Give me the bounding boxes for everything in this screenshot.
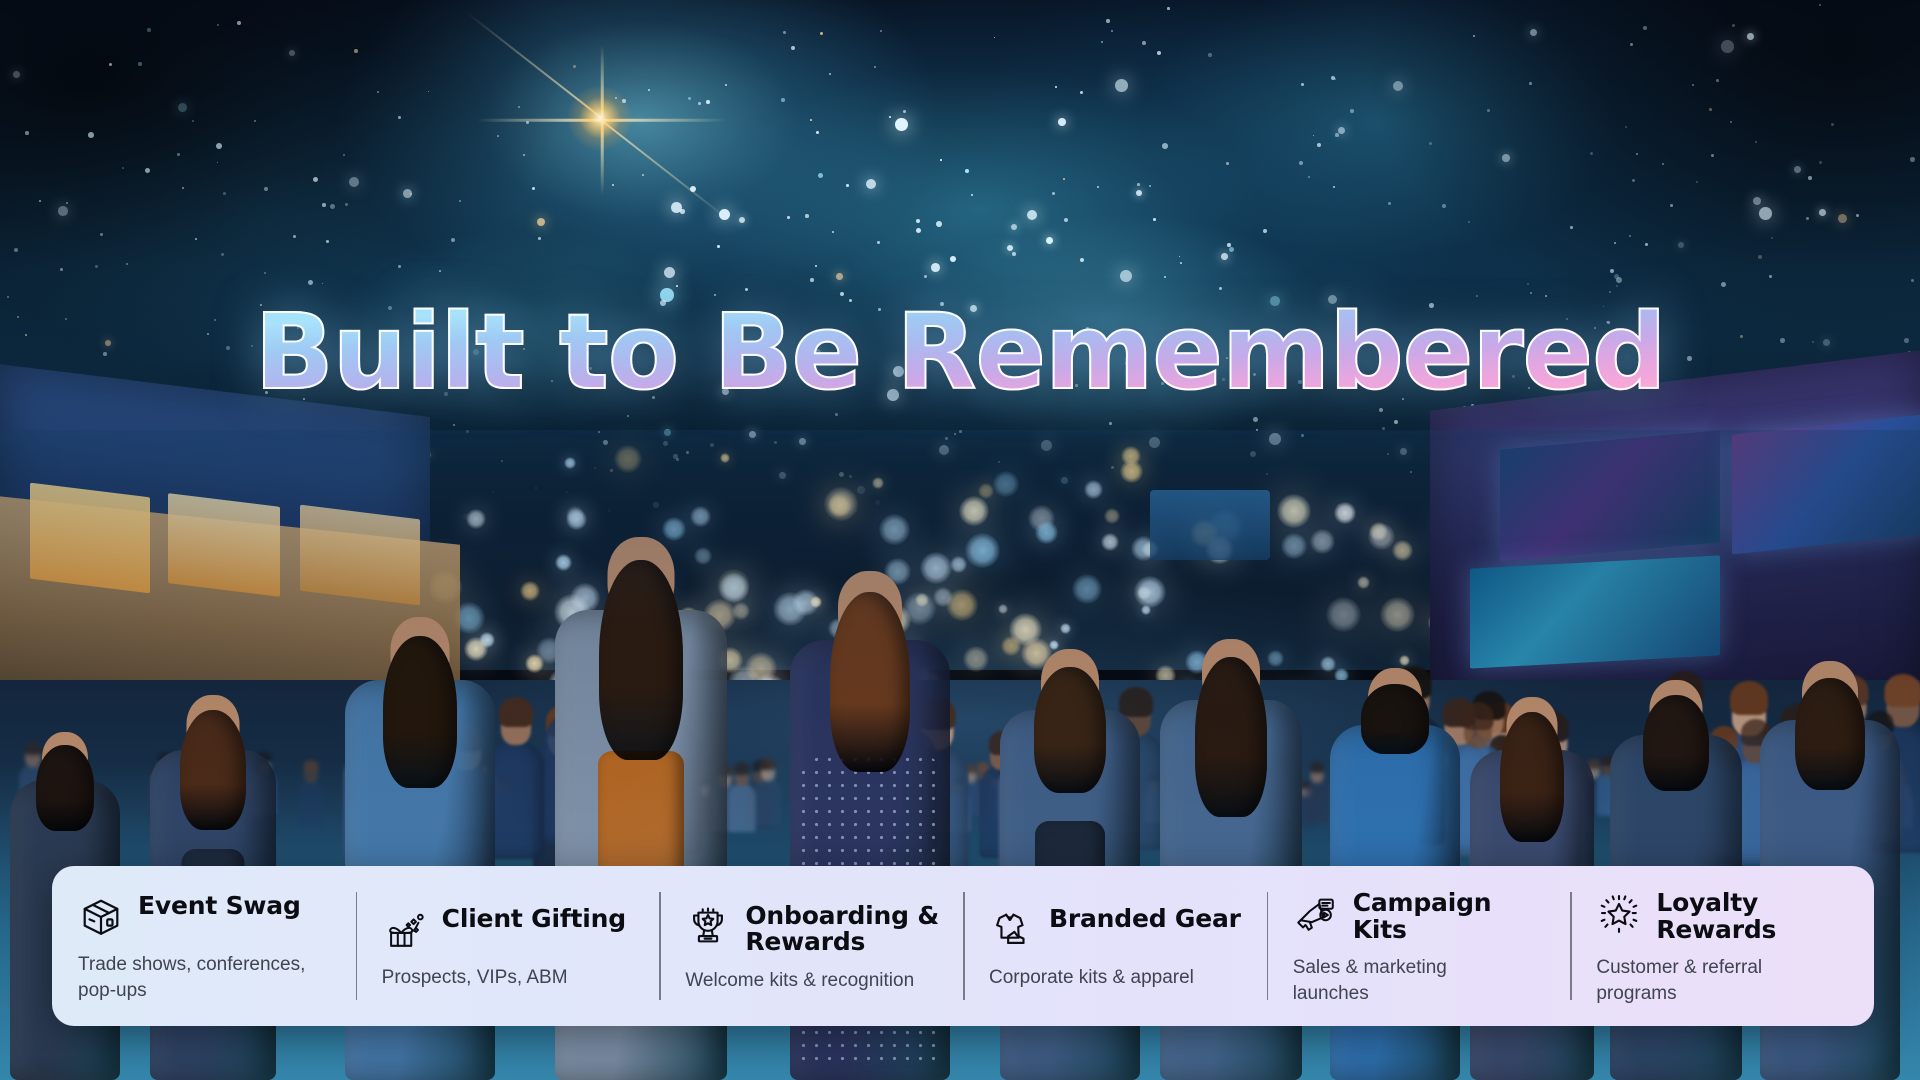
strip-item-title: Onboarding & Rewards bbox=[745, 903, 941, 956]
tshirt-sneaker-icon bbox=[989, 907, 1035, 953]
strip-item-header: Campaign Kits bbox=[1293, 890, 1549, 943]
page-title: Built to Be Remembered bbox=[254, 300, 1665, 404]
strip-item-title: Loyalty Rewards bbox=[1656, 890, 1852, 943]
strip-item-header: Event Swag bbox=[78, 893, 334, 940]
strip-item-subtitle: Sales & marketing launches bbox=[1293, 955, 1528, 1005]
package-box-icon bbox=[78, 894, 124, 940]
strip-item-subtitle: Trade shows, conferences, pop-ups bbox=[78, 952, 313, 1002]
hero-banner: Built to Be Remembered bbox=[0, 0, 1920, 1080]
strip-item-subtitle: Corporate kits & apparel bbox=[989, 965, 1224, 990]
strip-item-header: Branded Gear bbox=[989, 906, 1245, 953]
strip-item-subtitle: Customer & referral programs bbox=[1596, 955, 1831, 1005]
strip-item-subtitle: Welcome kits & recognition bbox=[685, 968, 920, 993]
strip-item-campaign-kits[interactable]: Campaign Kits Sales & marketing launches bbox=[1267, 866, 1571, 1026]
strip-item-onboarding-rewards[interactable]: Onboarding & Rewards Welcome kits & reco… bbox=[659, 866, 963, 1026]
strip-item-event-swag[interactable]: Event Swag Trade shows, conferences, pop… bbox=[52, 866, 356, 1026]
strip-item-header: Onboarding & Rewards bbox=[685, 903, 941, 956]
strip-item-branded-gear[interactable]: Branded Gear Corporate kits & apparel bbox=[963, 866, 1267, 1026]
trophy-star-icon bbox=[685, 904, 731, 950]
strip-item-loyalty-rewards[interactable]: Loyalty Rewards Customer & referral prog… bbox=[1570, 866, 1874, 1026]
megaphone-campaign-icon bbox=[1293, 891, 1339, 937]
strip-item-title: Client Gifting bbox=[442, 906, 626, 933]
strip-item-client-gifting[interactable]: Client Gifting Prospects, VIPs, ABM bbox=[356, 866, 660, 1026]
headline-container: Built to Be Remembered bbox=[0, 300, 1920, 404]
gift-sparkle-icon bbox=[382, 907, 428, 953]
service-category-strip: Event Swag Trade shows, conferences, pop… bbox=[52, 866, 1874, 1026]
strip-item-title: Event Swag bbox=[138, 893, 301, 920]
star-sparkle-icon bbox=[1596, 891, 1642, 937]
strip-item-header: Loyalty Rewards bbox=[1596, 890, 1852, 943]
strip-item-header: Client Gifting bbox=[382, 906, 638, 953]
strip-item-title: Branded Gear bbox=[1049, 906, 1241, 933]
strip-item-subtitle: Prospects, VIPs, ABM bbox=[382, 965, 617, 990]
lens-flare-core bbox=[568, 86, 632, 150]
strip-item-title: Campaign Kits bbox=[1353, 890, 1549, 943]
